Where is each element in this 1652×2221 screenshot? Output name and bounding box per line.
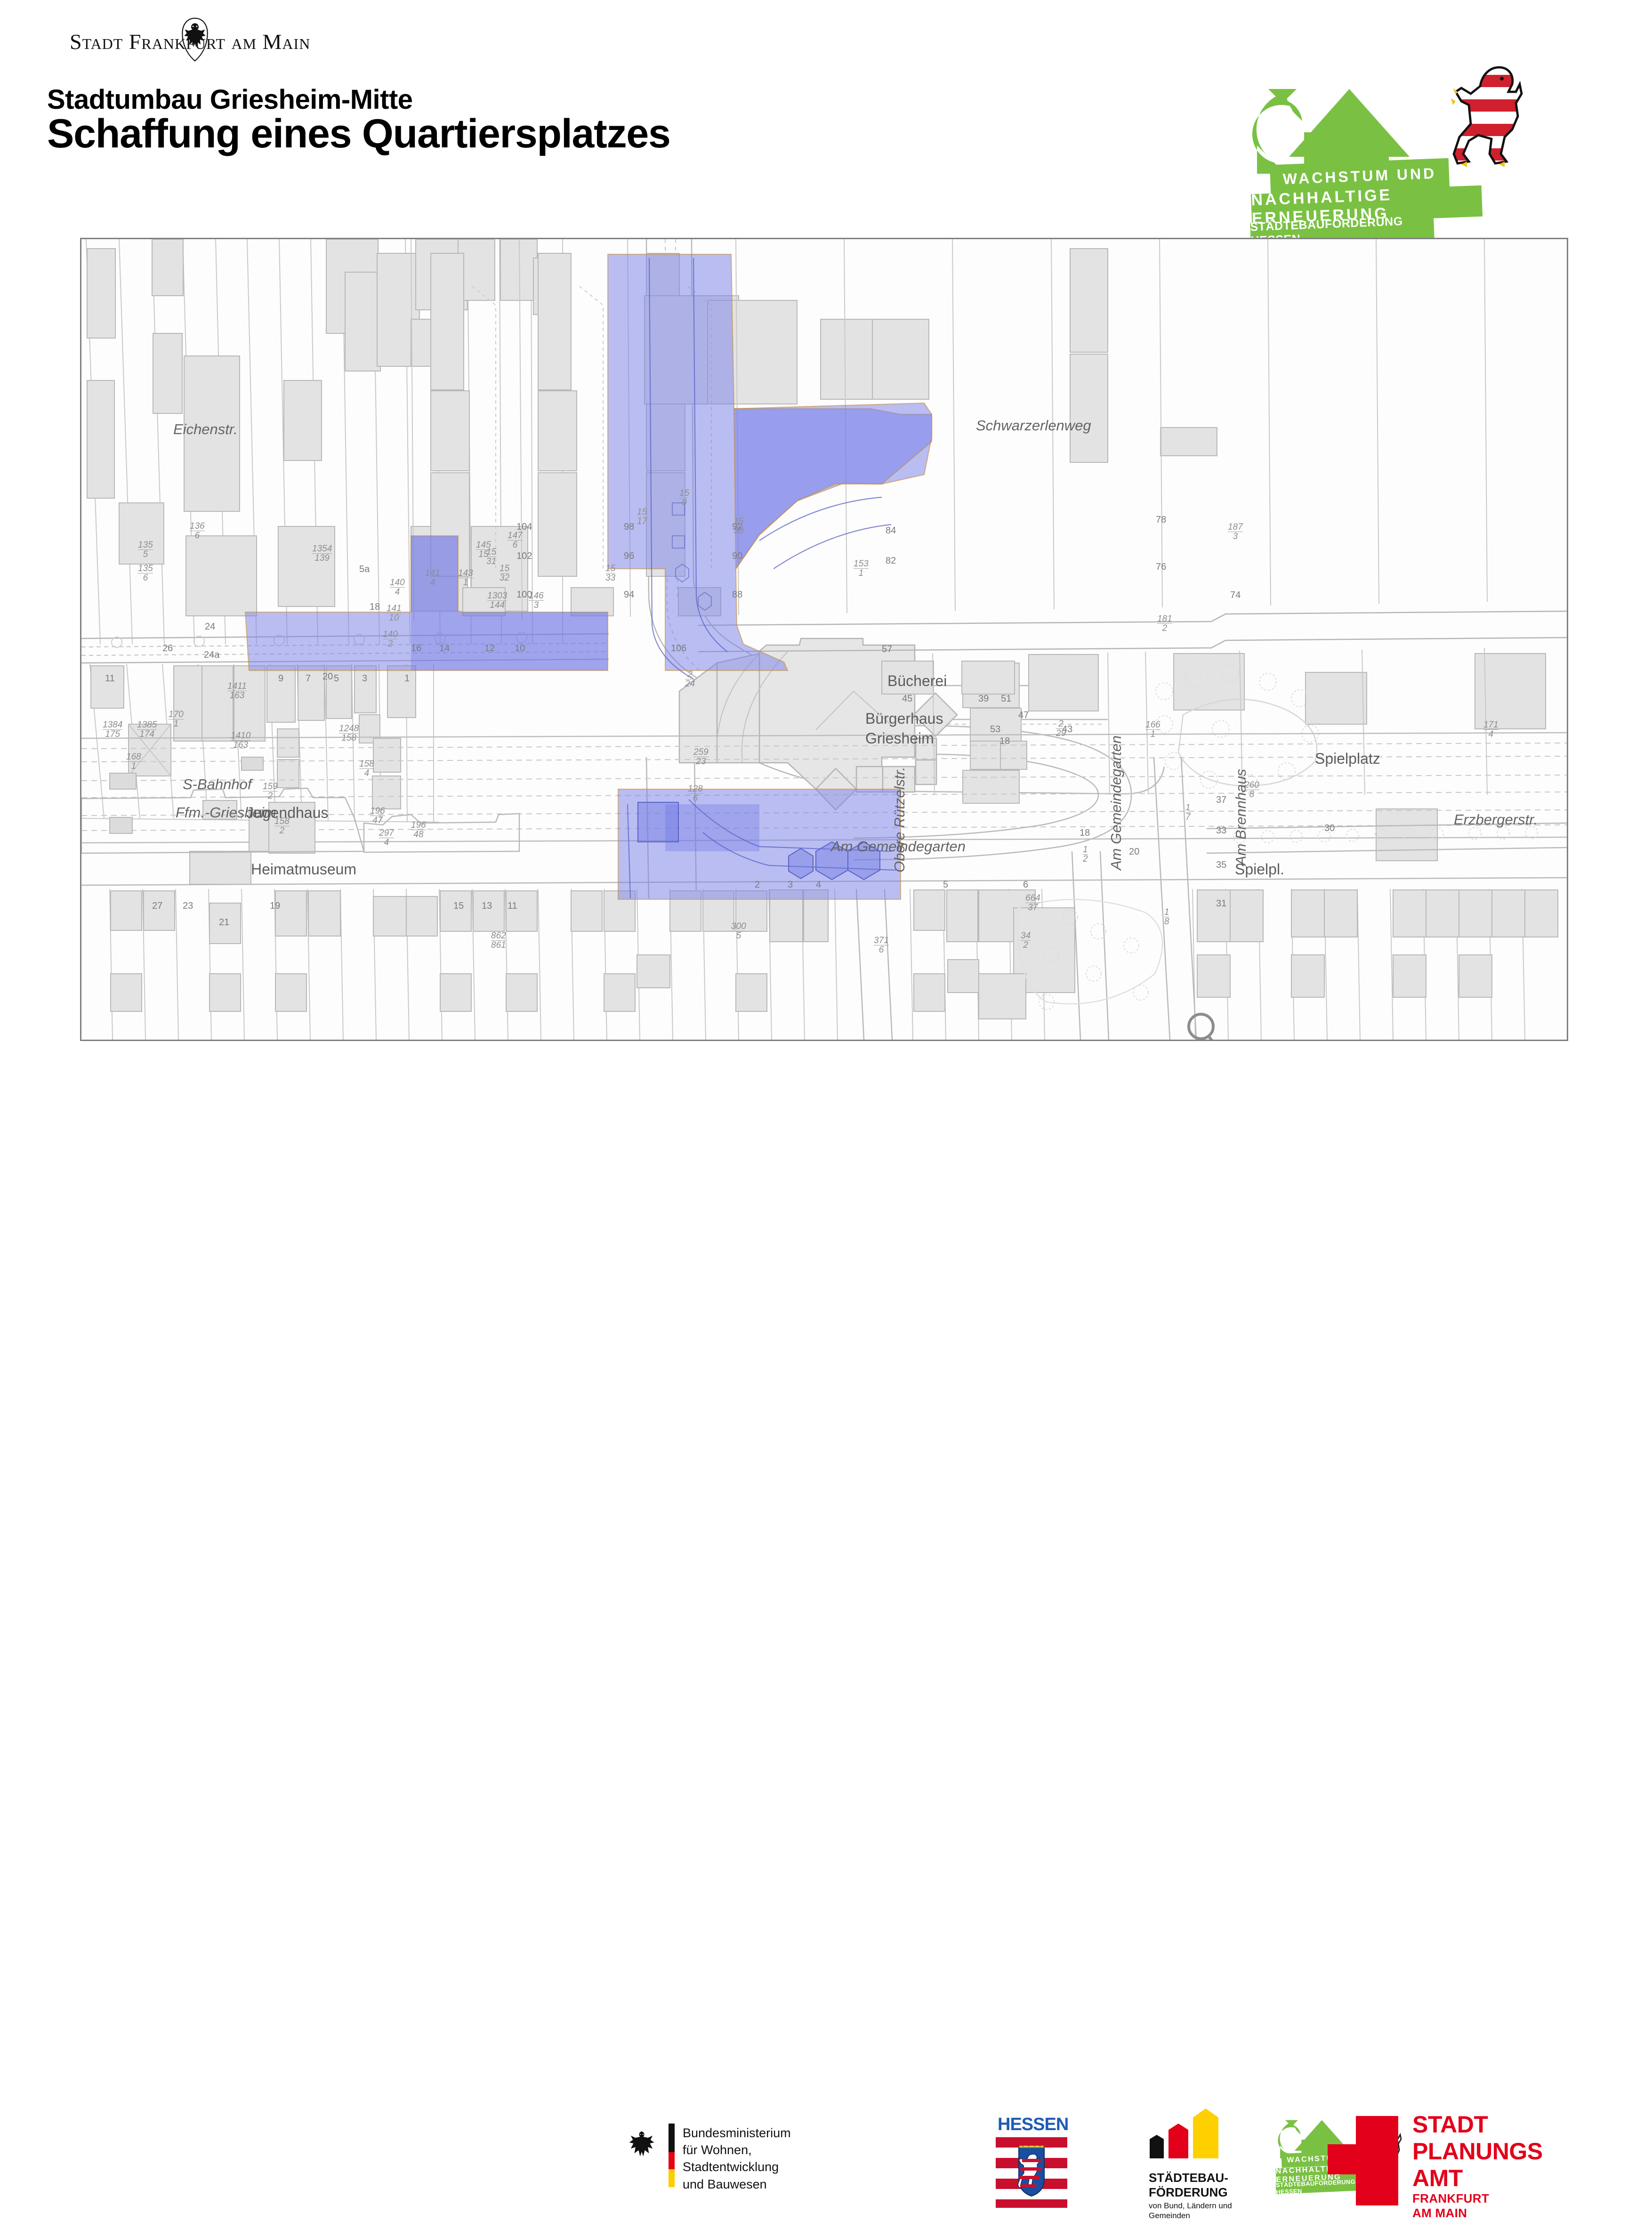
staedtebau-subline: von Bund, Ländern und Gemeinden [1149,2201,1232,2221]
staedtebau-sub-2: Gemeinden [1149,2211,1232,2221]
german-flag-bar [669,2124,675,2187]
house-yellow-icon [1193,2108,1218,2158]
hessen-state-logo: HESSEN [995,2116,1070,2208]
funding-logo-bar: Bundesministerium für Wohnen, Stadtentwi… [0,1050,1652,1168]
staedtebau-wordmark: STÄDTEBAU- FÖRDERUNG [1149,2171,1228,2200]
hessen-wordmark: HESSEN [998,2115,1068,2135]
spa-wordmark: STADT PLANUNGS AMT [1412,2111,1543,2192]
cadastral-map[interactable]: Eichenstr.SchwarzerlenwegS-BahnhofFfm.-G… [80,238,1568,1041]
map-drawing [81,239,1567,1040]
page-title: Schaffung eines Quartiersplatzes [47,111,670,157]
staedtebau-line-2: FÖRDERUNG [1149,2185,1228,2200]
spa-line-2: PLANUNGS [1412,2138,1543,2165]
staedtebau-line-1: STÄDTEBAU- [1149,2171,1228,2185]
spa-line-3: AMT [1412,2165,1543,2192]
bmwsb-wordmark: Bundesministerium für Wohnen, Stadtentwi… [683,2124,791,2193]
staedtebaufoerderung-logo: STÄDTEBAU- FÖRDERUNG von Bund, Ländern u… [1144,2115,1266,2209]
stadtplanungsamt-mark-icon [1328,2116,1398,2205]
bmwsb-line-3: und Bauwesen [683,2176,791,2193]
bmwsb-line-1: Bundesministerium [683,2124,791,2141]
spa-city-line: FRANKFURT AM MAIN [1412,2191,1489,2221]
house-red-icon [1168,2124,1188,2158]
bmwsb-line-2: für Wohnen, Stadtentwicklung [683,2141,791,2175]
house-black-icon [1150,2135,1164,2158]
city-logo-wordmark: Stadt Frankfurt am Main [70,29,310,54]
spa-line-1: STADT [1412,2111,1543,2138]
staedtebau-sub-1: von Bund, Ländern und [1149,2201,1232,2211]
city-of-frankfurt-logo: Stadt Frankfurt am Main [70,23,371,56]
hessen-shield-icon [1017,2146,1046,2197]
hessen-lion-icon [1450,64,1525,172]
page-header: Stadt Frankfurt am Main Stadtumbau Gries… [0,0,1652,235]
federal-eagle-icon [626,2128,657,2166]
